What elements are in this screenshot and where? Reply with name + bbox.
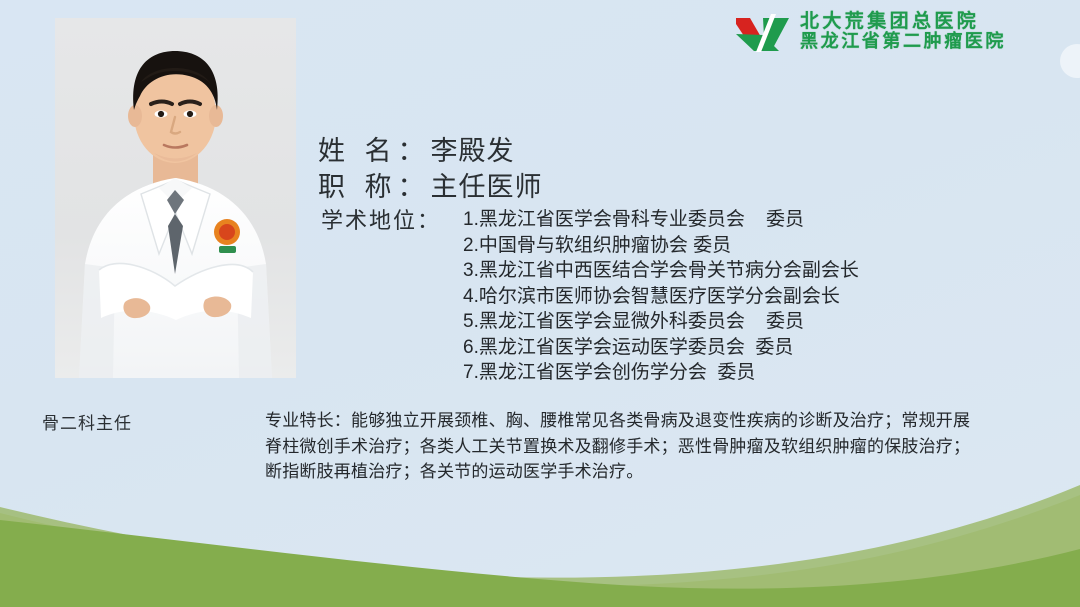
title-label: 职 称：	[318, 172, 431, 202]
doctor-photo	[55, 18, 296, 378]
bottom-wave-decoration	[0, 477, 1080, 607]
specialty-description: 专业特长：能够独立开展颈椎、胸、腰椎常见各类骨病及退变性疾病的诊断及治疗；常规开…	[265, 408, 1025, 485]
slide-root: 北大荒集团总医院 黑龙江省第二肿瘤医院	[0, 0, 1080, 607]
academic-positions-label: 学术地位：	[321, 207, 441, 234]
list-item: 3.黑龙江省中西医结合学会骨关节病分会副会长	[463, 258, 859, 284]
name-value: 李殿发	[431, 136, 515, 166]
decorative-circle	[1060, 44, 1080, 78]
beidahuang-group-logo-mark-icon	[733, 8, 791, 54]
list-item: 6.黑龙江省医学会运动医学委员会 委员	[463, 335, 859, 361]
hospital-logo: 北大荒集团总医院 黑龙江省第二肿瘤医院	[733, 8, 1006, 54]
doctor-identity: 姓 名：李殿发 职 称：主任医师	[318, 133, 543, 205]
list-item: 1.黑龙江省医学会骨科专业委员会 委员	[463, 207, 859, 233]
title-value: 主任医师	[431, 172, 543, 202]
hospital-name-line2: 黑龙江省第二肿瘤医院	[800, 32, 1006, 51]
academic-positions-list: 1.黑龙江省医学会骨科专业委员会 委员 2.中国骨与软组织肿瘤协会 委员 3.黑…	[441, 207, 859, 386]
list-item: 7.黑龙江省医学会创伤学分会 委员	[463, 360, 859, 386]
hospital-logo-text: 北大荒集团总医院 黑龙江省第二肿瘤医院	[800, 11, 1006, 51]
hospital-name-line1: 北大荒集团总医院	[800, 11, 1006, 32]
doctor-title-row: 职 称：主任医师	[318, 169, 543, 205]
list-item: 5.黑龙江省医学会显微外科委员会 委员	[463, 309, 859, 335]
specialty-line: 脊柱微创手术治疗；各类人工关节置换术及翻修手术；恶性骨肿瘤及软组织肿瘤的保肢治疗…	[265, 434, 1025, 460]
academic-positions-block: 学术地位： 1.黑龙江省医学会骨科专业委员会 委员 2.中国骨与软组织肿瘤协会 …	[321, 207, 859, 386]
list-item: 2.中国骨与软组织肿瘤协会 委员	[463, 233, 859, 259]
specialty-line: 专业特长：能够独立开展颈椎、胸、腰椎常见各类骨病及退变性疾病的诊断及治疗；常规开…	[265, 408, 1025, 434]
list-item: 4.哈尔滨市医师协会智慧医疗医学分会副会长	[463, 284, 859, 310]
department-title: 骨二科主任	[42, 409, 132, 434]
doctor-name-row: 姓 名：李殿发	[318, 133, 543, 169]
name-label: 姓 名：	[318, 136, 431, 166]
